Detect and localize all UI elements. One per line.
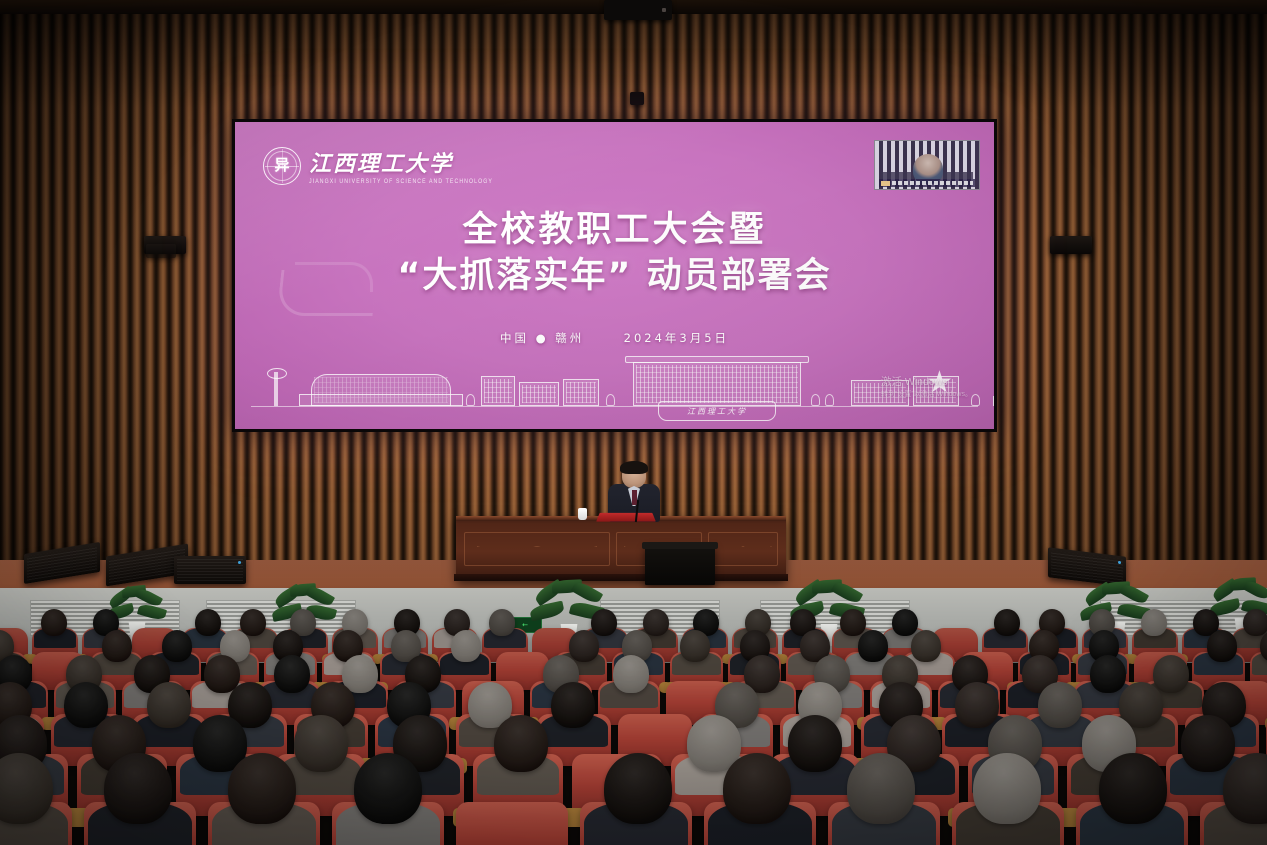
- audience-member-head: [911, 630, 941, 662]
- audience-member-head: [195, 609, 221, 636]
- audience-member-head: [274, 655, 310, 693]
- windows-activation-watermark: 激活 Windows 转到“设置”以激活 Windows。: [881, 375, 972, 399]
- audience-member-head: [41, 609, 67, 636]
- speaker-hair: [620, 461, 648, 474]
- skyline-tree-5: [971, 394, 980, 406]
- skyline-plaque-text: 江西理工大学: [687, 406, 747, 417]
- audience-member-head: [1153, 655, 1189, 693]
- skyline-tree-2: [606, 394, 615, 406]
- podium-panel-right: [708, 532, 778, 566]
- skyline-building-main-hall: [633, 362, 801, 406]
- audience-member-head: [643, 609, 669, 636]
- audience-member-head: [591, 609, 617, 636]
- audience-member-head: [1243, 609, 1267, 636]
- skyline-windows: [566, 382, 596, 403]
- podium-chevron-motif: [714, 546, 771, 556]
- wall-right-shadow: [1027, 0, 1267, 600]
- university-logo-lockup: 异 江西理工大学 JIANGXI UNIVERSITY OF SCIENCE A…: [263, 146, 493, 185]
- ceiling-mount-bracket: [630, 92, 644, 105]
- skyline-ground-line: [251, 406, 978, 408]
- audience-member-head: [1181, 715, 1235, 772]
- audience-member-head: [604, 753, 672, 824]
- lectern: [645, 545, 715, 585]
- audience-member-head: [494, 715, 548, 772]
- skyline-tree-1: [466, 394, 475, 406]
- audience-member-head: [569, 630, 599, 662]
- wall-speaker-far-left: [146, 244, 176, 258]
- seated-speaker: [608, 462, 660, 520]
- speaker-grille: [1051, 551, 1123, 584]
- exit-sign-arrow-icon: ←: [522, 621, 528, 629]
- skyline-windows: [484, 379, 512, 403]
- watermark-line-1: 激活 Windows: [881, 375, 972, 389]
- screen-title-line-2: “大抓落实年” 动员部署会: [235, 254, 994, 300]
- skyline-building-stadium-base: [299, 394, 463, 406]
- seal-glyph: 异: [274, 158, 289, 173]
- screen-title-line-1: 全校教职工大会暨: [235, 208, 994, 254]
- speaker-grille: [177, 559, 243, 581]
- audience-member-head: [1038, 682, 1082, 728]
- audience-member-head: [551, 682, 595, 728]
- stage-monitor-speaker-3: [174, 556, 246, 584]
- audience-member-head: [1141, 609, 1167, 636]
- audience-member-head: [1207, 630, 1237, 662]
- podium-base-trim: [454, 574, 788, 581]
- plant-leaf: [137, 602, 167, 621]
- video-inset-caption-text: [892, 181, 973, 185]
- screen-title: 全校教职工大会暨 “大抓落实年” 动员部署会: [235, 208, 994, 299]
- skyline-name-plaque: 江西理工大学: [658, 401, 776, 421]
- wall-speaker-right: [1050, 236, 1092, 254]
- audience-member-head: [723, 753, 791, 824]
- audience-member-head: [1090, 655, 1126, 693]
- audience-member-head: [613, 655, 649, 693]
- audience-member-head: [973, 753, 1041, 824]
- skyline-building-dorm-2: [519, 382, 559, 406]
- logo-text-block: 江西理工大学 JIANGXI UNIVERSITY OF SCIENCE AND…: [309, 146, 493, 185]
- audience-member-head: [147, 682, 191, 728]
- skyline-building-dorm-3: [563, 379, 599, 406]
- speaker-power-led: [1118, 561, 1121, 564]
- plant-leaf: [529, 601, 565, 622]
- audience-member-head: [354, 753, 422, 824]
- audience-member-head: [162, 630, 192, 662]
- audience-member-head: [994, 609, 1020, 636]
- audience-member-head: [1099, 753, 1167, 824]
- plant-leaf: [1243, 578, 1267, 601]
- audience-member-head: [892, 609, 918, 636]
- led-screen-frame: 异 江西理工大学 JIANGXI UNIVERSITY OF SCIENCE A…: [232, 119, 997, 432]
- skyline-windows: [636, 365, 798, 403]
- skyline-windows: [522, 385, 556, 403]
- audience-member-head: [294, 715, 348, 772]
- plant-leaf: [305, 584, 335, 608]
- skyline-main-hall-roof: [625, 356, 809, 363]
- audience-member-head: [102, 630, 132, 662]
- podium-table: [456, 516, 786, 581]
- audience-seat: [456, 802, 568, 845]
- water-cup: [578, 508, 587, 520]
- audience-member-head: [840, 609, 866, 636]
- red-document: [596, 513, 656, 522]
- watermark-line-2: 转到“设置”以激活 Windows。: [881, 390, 972, 399]
- skyline-tree-3: [811, 394, 820, 406]
- live-video-inset: [874, 140, 980, 190]
- audience-member-head: [858, 630, 888, 662]
- skyline-building-dorm-1: [481, 376, 515, 406]
- university-seal-icon: 异: [263, 147, 301, 185]
- podium-chevron-motif: [477, 546, 598, 556]
- skyline-tower: [267, 372, 285, 406]
- speaker-power-led: [238, 561, 241, 564]
- podium-panel-left: [464, 532, 610, 566]
- lectern-top: [642, 542, 718, 549]
- audience-member-head: [680, 630, 710, 662]
- auditorium-photo: 异 江西理工大学 JIANGXI UNIVERSITY OF SCIENCE A…: [0, 0, 1267, 845]
- audience-member-head: [228, 753, 296, 824]
- plant-leaf: [1119, 582, 1149, 606]
- plant-leaf: [831, 579, 863, 605]
- university-name-english: JIANGXI UNIVERSITY OF SCIENCE AND TECHNO…: [309, 179, 493, 186]
- audience-member-head: [788, 715, 842, 772]
- audience-member-head: [104, 753, 172, 824]
- audience-member-head: [451, 630, 481, 662]
- university-name-chinese: 江西理工大学: [309, 146, 493, 178]
- audience-member-head: [847, 753, 915, 824]
- projector-led: [662, 8, 666, 12]
- ceiling-projector: [604, 0, 672, 20]
- skyline-tree-4: [825, 394, 834, 406]
- audience-member-head: [489, 609, 515, 636]
- campus-skyline-illustration: 江西理工大学: [251, 339, 978, 407]
- wall-left-shadow: [0, 0, 240, 600]
- video-inset-caption-logo-icon: [881, 181, 890, 186]
- plant-leaf: [571, 579, 603, 605]
- led-screen: 异 江西理工大学 JIANGXI UNIVERSITY OF SCIENCE A…: [235, 122, 994, 429]
- audience-member-head: [955, 682, 999, 728]
- video-inset-caption-bar: [879, 179, 975, 187]
- skyline-building-gym-base: [993, 396, 994, 406]
